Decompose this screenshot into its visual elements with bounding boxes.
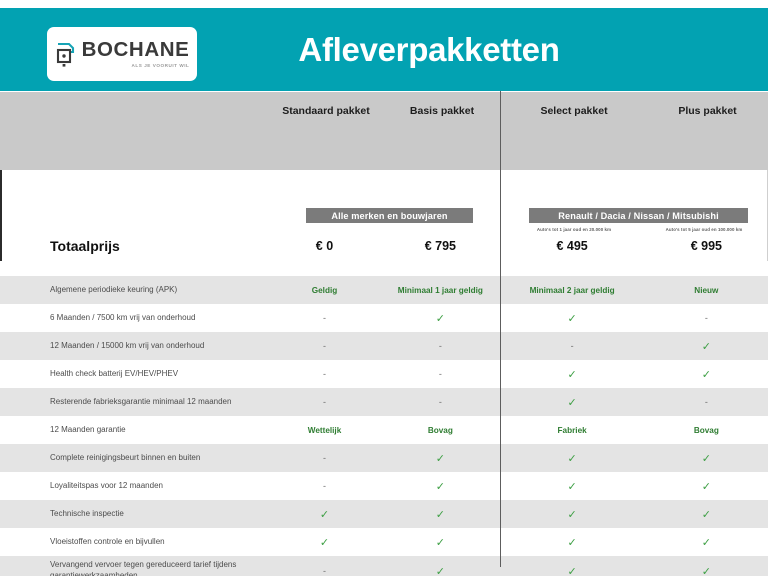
cell-select: ✓ [500, 565, 645, 576]
cell-plus: Nieuw [645, 286, 768, 295]
cell-standaard: - [267, 369, 382, 379]
cell-plus: ✓ [645, 508, 768, 521]
row-label: Health check batterij EV/HEV/PHEV [0, 369, 267, 380]
table-row: Algemene periodieke keuring (APK)GeldigM… [0, 276, 768, 304]
row-label: Algemene periodieke keuring (APK) [0, 285, 267, 296]
table-row: 12 Maanden / 15000 km vrij van onderhoud… [0, 332, 768, 360]
package-name-select: Select pakket [540, 105, 607, 117]
bochane-mark-icon [55, 39, 77, 69]
table-body: Algemene periodieke keuring (APK)GeldigM… [0, 276, 768, 576]
logo-wordmark: BOCHANE [82, 40, 190, 61]
cell-select: Minimaal 2 jaar geldig [500, 286, 645, 295]
total-price-basis: € 795 [382, 239, 498, 253]
row-label: Vloeistoffen controle en bijvullen [0, 537, 267, 548]
table-row: Vervangend vervoer tegen gereduceerd tar… [0, 556, 768, 576]
package-name-standaard: Standaard pakket [282, 105, 370, 117]
total-price-select: € 495 [500, 239, 645, 253]
cell-select: ✓ [500, 508, 645, 521]
logo-tagline: ALS JE VOORUIT WIL [132, 63, 190, 68]
cell-basis: ✓ [382, 312, 498, 325]
table-row: Loyaliteitspas voor 12 maanden-✓✓✓ [0, 472, 768, 500]
total-price-label: Totaalprijs [0, 238, 267, 254]
cell-select: Fabriek [500, 426, 645, 435]
row-label: Vervangend vervoer tegen gereduceerd tar… [0, 560, 267, 576]
table-row: Complete reinigingsbeurt binnen en buite… [0, 444, 768, 472]
cell-standaard: ✓ [267, 536, 382, 549]
cell-basis: - [382, 369, 498, 379]
package-names-right-group: Select pakket Plus pakket [501, 92, 768, 170]
package-names-right: Select pakket Plus pakket [501, 101, 768, 119]
cell-standaard: - [267, 397, 382, 407]
cell-basis: ✓ [382, 565, 498, 576]
cell-plus: ✓ [645, 368, 768, 381]
cell-standaard: - [267, 481, 382, 491]
total-price-standaard: € 0 [267, 239, 382, 253]
cell-plus: - [645, 397, 768, 407]
cell-plus: ✓ [645, 536, 768, 549]
table-row: Health check batterij EV/HEV/PHEV--✓✓ [0, 360, 768, 388]
cell-select: ✓ [500, 536, 645, 549]
total-price-row: Totaalprijs € 0 € 795 € 495 € 995 [0, 231, 768, 261]
cell-standaard: Geldig [267, 286, 382, 295]
cell-select: - [500, 341, 645, 351]
cell-standaard: - [267, 341, 382, 351]
cell-standaard: - [267, 313, 382, 323]
table-row: 12 Maanden garantieWettelijkBovagFabriek… [0, 416, 768, 444]
total-price-plus: € 995 [645, 239, 768, 253]
cell-plus: ✓ [645, 452, 768, 465]
row-label: Loyaliteitspas voor 12 maanden [0, 481, 267, 492]
cell-basis: ✓ [382, 508, 498, 521]
row-label: 6 Maanden / 7500 km vrij van onderhoud [0, 313, 267, 324]
row-label: Technische inspectie [0, 509, 267, 520]
cell-plus: Bovag [645, 426, 768, 435]
cell-select: ✓ [500, 396, 645, 409]
cell-standaard: Wettelijk [267, 426, 382, 435]
bochane-logo: BOCHANE ALS JE VOORUIT WIL [47, 27, 197, 81]
cell-basis: ✓ [382, 480, 498, 493]
table-row: Resterende fabrieksgarantie minimaal 12 … [0, 388, 768, 416]
cell-plus: - [645, 313, 768, 323]
row-label: Resterende fabrieksgarantie minimaal 12 … [0, 397, 267, 408]
cell-standaard: ✓ [267, 508, 382, 521]
cell-select: ✓ [500, 312, 645, 325]
table-row: Vloeistoffen controle en bijvullen✓✓✓✓ [0, 528, 768, 556]
header-body-spacer [0, 261, 768, 276]
cell-standaard: - [267, 566, 382, 576]
table-row: Technische inspectie✓✓✓✓ [0, 500, 768, 528]
brand-bar-all-makes: Alle merken en bouwjaren [306, 208, 473, 223]
table-header: Standaard pakket Basis pakket Select pak… [0, 91, 768, 170]
cell-basis: - [382, 397, 498, 407]
package-name-plus: Plus pakket [678, 105, 736, 117]
cell-select: ✓ [500, 452, 645, 465]
cell-select: ✓ [500, 480, 645, 493]
package-name-basis: Basis pakket [410, 105, 474, 117]
cell-plus: ✓ [645, 480, 768, 493]
cell-basis: - [382, 341, 498, 351]
cell-plus: ✓ [645, 565, 768, 576]
package-group-divider [500, 91, 501, 567]
table-row: 6 Maanden / 7500 km vrij van onderhoud-✓… [0, 304, 768, 332]
brand-bar-oem-brands: Renault / Dacia / Nissan / Mitsubishi [529, 208, 748, 223]
afleverpakketten-page: Afleverpakketten BOCHANE ALS JE VOORUIT … [0, 0, 768, 576]
row-label: 12 Maanden garantie [0, 425, 267, 436]
cell-basis: ✓ [382, 536, 498, 549]
cell-select: ✓ [500, 368, 645, 381]
cell-basis: ✓ [382, 452, 498, 465]
row-label: Complete reinigingsbeurt binnen en buite… [0, 453, 267, 464]
cell-basis: Minimaal 1 jaar geldig [382, 286, 498, 295]
cell-plus: ✓ [645, 340, 768, 353]
row-label: 12 Maanden / 15000 km vrij van onderhoud [0, 341, 267, 352]
comparison-table: Standaard pakket Basis pakket Select pak… [0, 91, 768, 567]
cell-basis: Bovag [382, 426, 498, 435]
cell-standaard: - [267, 453, 382, 463]
